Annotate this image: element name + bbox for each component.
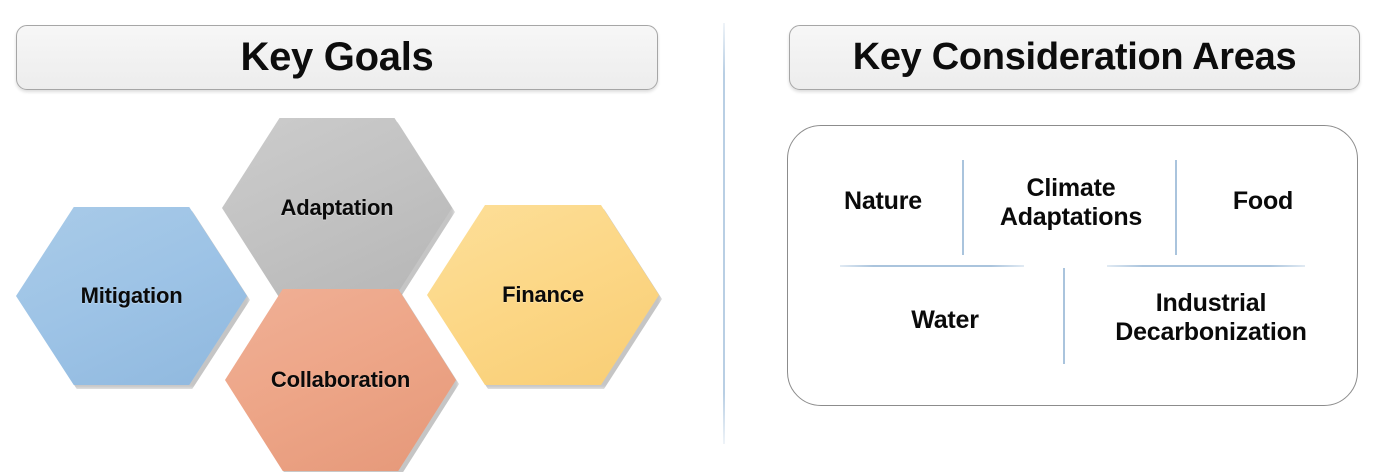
cell-water: Water bbox=[850, 294, 1040, 348]
divider-water-industrial bbox=[1063, 268, 1065, 364]
hexagon-collaboration-label: Collaboration bbox=[271, 367, 410, 393]
center-vertical-divider bbox=[723, 23, 725, 444]
cell-food: Food bbox=[1178, 175, 1348, 229]
key-consideration-areas-title: Key Consideration Areas bbox=[853, 36, 1297, 79]
hexagon-finance-label: Finance bbox=[502, 282, 584, 308]
cell-climate-adaptations-label: ClimateAdaptations bbox=[1000, 174, 1142, 233]
cell-nature-label: Nature bbox=[844, 187, 922, 217]
divider-climate-food bbox=[1175, 160, 1177, 255]
key-consideration-areas-header: Key Consideration Areas bbox=[789, 25, 1360, 90]
slide-canvas: Key Goals Key Consideration Areas Mitiga… bbox=[0, 0, 1374, 472]
cell-industrial-decarbonization: IndustrialDecarbonization bbox=[1075, 275, 1347, 361]
cell-water-label: Water bbox=[911, 306, 979, 336]
hexagon-collaboration: Collaboration bbox=[225, 289, 456, 471]
hexagon-mitigation-label: Mitigation bbox=[81, 283, 183, 309]
hexagon-mitigation: Mitigation bbox=[16, 207, 247, 385]
cell-food-label: Food bbox=[1233, 187, 1293, 217]
key-goals-header: Key Goals bbox=[16, 25, 658, 90]
cell-industrial-decarbonization-label: IndustrialDecarbonization bbox=[1115, 289, 1306, 348]
cell-climate-adaptations: ClimateAdaptations bbox=[972, 160, 1170, 246]
hexagon-finance: Finance bbox=[427, 205, 659, 385]
hexagon-adaptation: Adaptation bbox=[222, 118, 452, 298]
divider-horizontal-left bbox=[840, 265, 1024, 267]
divider-horizontal-right bbox=[1107, 265, 1305, 267]
key-goals-title: Key Goals bbox=[241, 35, 434, 80]
cell-nature: Nature bbox=[798, 175, 968, 229]
hexagon-adaptation-label: Adaptation bbox=[281, 195, 394, 221]
